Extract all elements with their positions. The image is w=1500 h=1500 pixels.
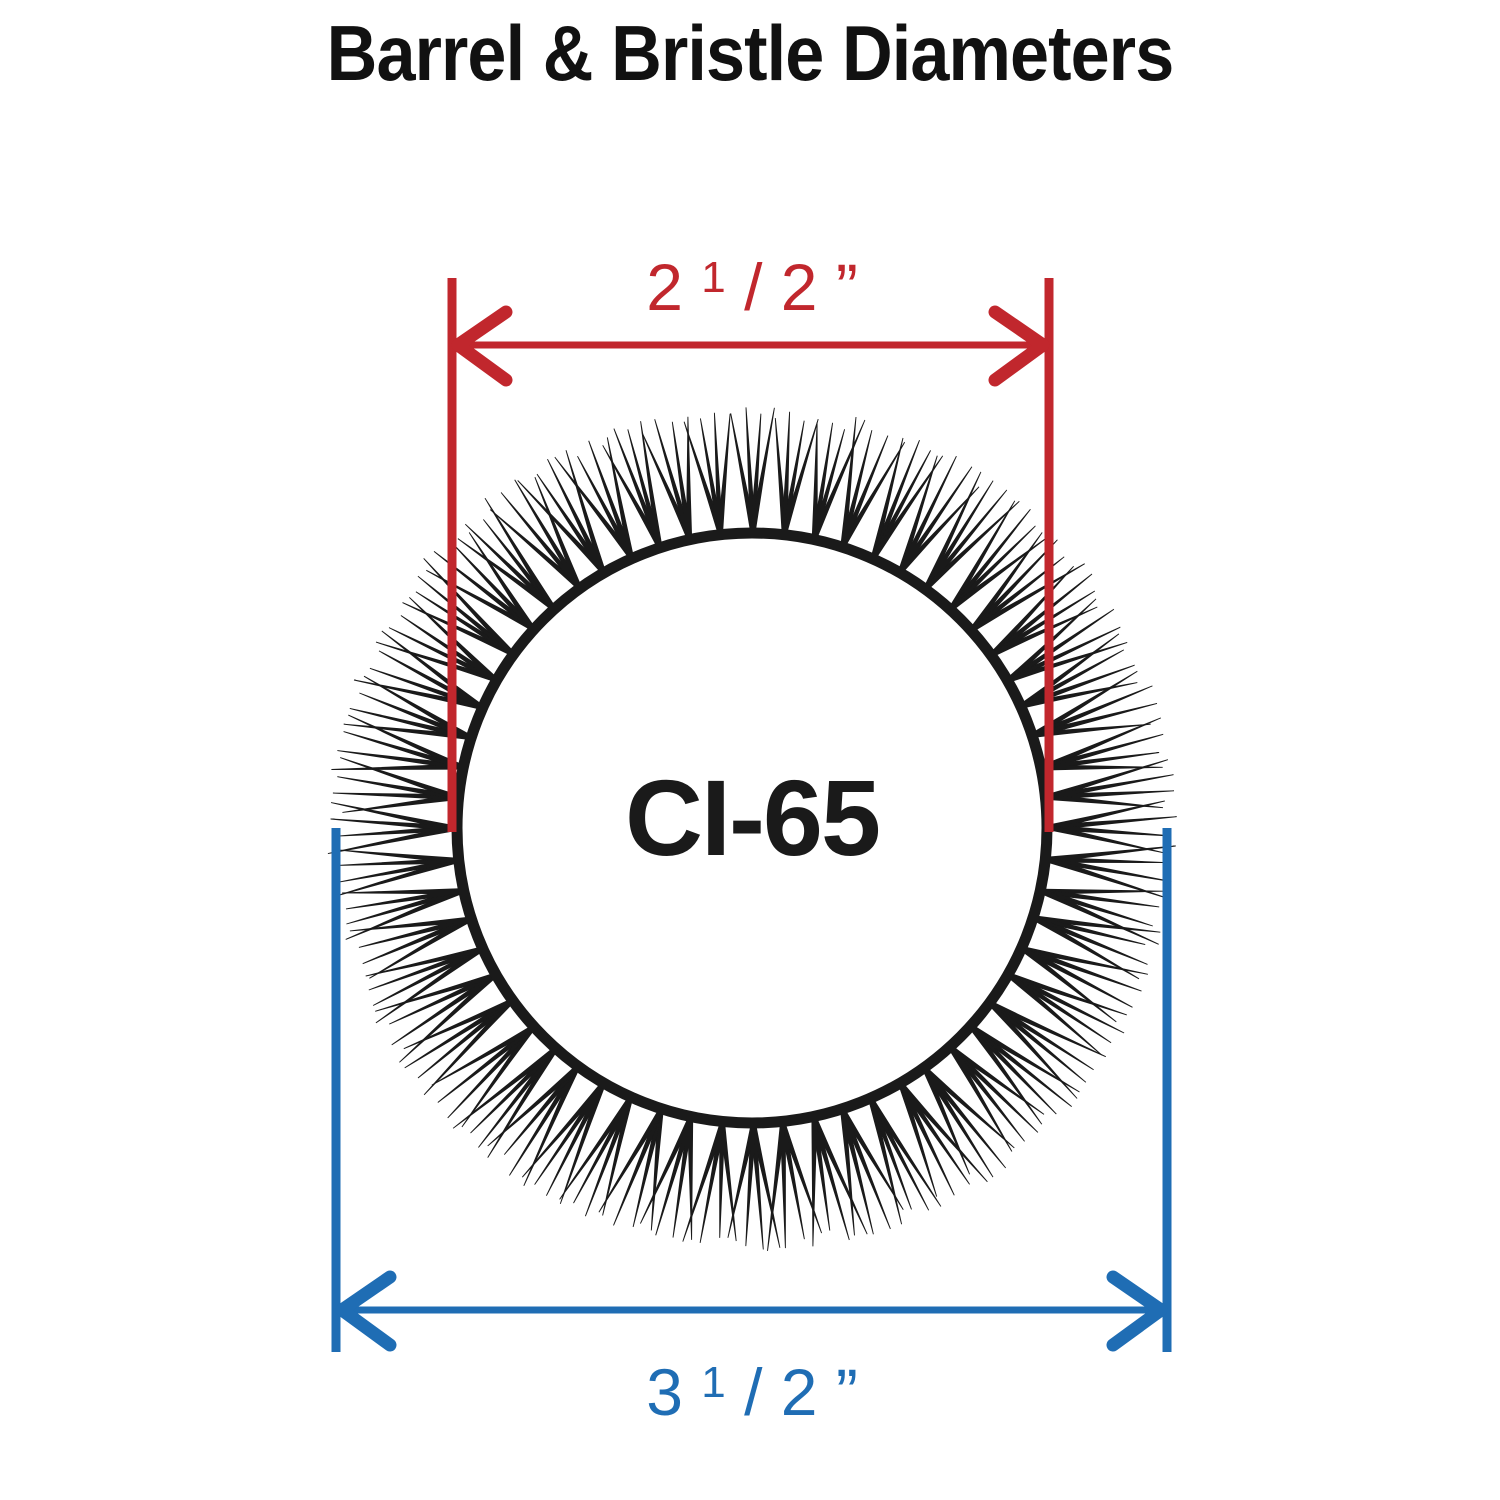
- barrel-dim-whole: 2: [646, 250, 683, 324]
- bristle-dim-whole: 3: [646, 1355, 683, 1429]
- bristle-hair: [1048, 794, 1163, 807]
- brush-cross-section-figure: CI-65 2 1 / 2 ”: [0, 0, 1500, 1500]
- bristle-hair: [750, 408, 774, 530]
- barrel-dim-unit: ”: [836, 250, 858, 324]
- bristle-hair: [924, 1069, 970, 1175]
- diagram-page: Barrel & Bristle Diameters CI-65 2 1 /: [0, 0, 1500, 1500]
- svg-text:3 1: 3 1 / 2 ”: [646, 1337, 858, 1429]
- bristle-hair: [841, 442, 905, 545]
- barrel-dim-numerator: 1: [701, 253, 725, 302]
- svg-text:2 1: 2 1 / 2 ”: [646, 232, 858, 324]
- bristle-dim-denominator: 2: [781, 1355, 818, 1429]
- bristle-hair: [812, 1119, 817, 1247]
- bristle-hair: [453, 1049, 556, 1128]
- part-number-label: CI-65: [625, 757, 879, 878]
- bristle-hair: [344, 732, 461, 770]
- bristle-hair: [718, 414, 731, 532]
- barrel-dim-denominator: 2: [781, 250, 818, 324]
- barrel-dimension-label: 2 1 / 2 ”: [646, 232, 858, 324]
- bristle-hair: [728, 1126, 756, 1238]
- bristle-hair: [1043, 889, 1159, 944]
- bristle-hair: [535, 1084, 605, 1184]
- bristle-dim-numerator: 1: [701, 1358, 725, 1407]
- bristle-dim-unit: ”: [836, 1355, 858, 1429]
- bristle-dimension-label: 3 1 / 2 ”: [646, 1337, 858, 1429]
